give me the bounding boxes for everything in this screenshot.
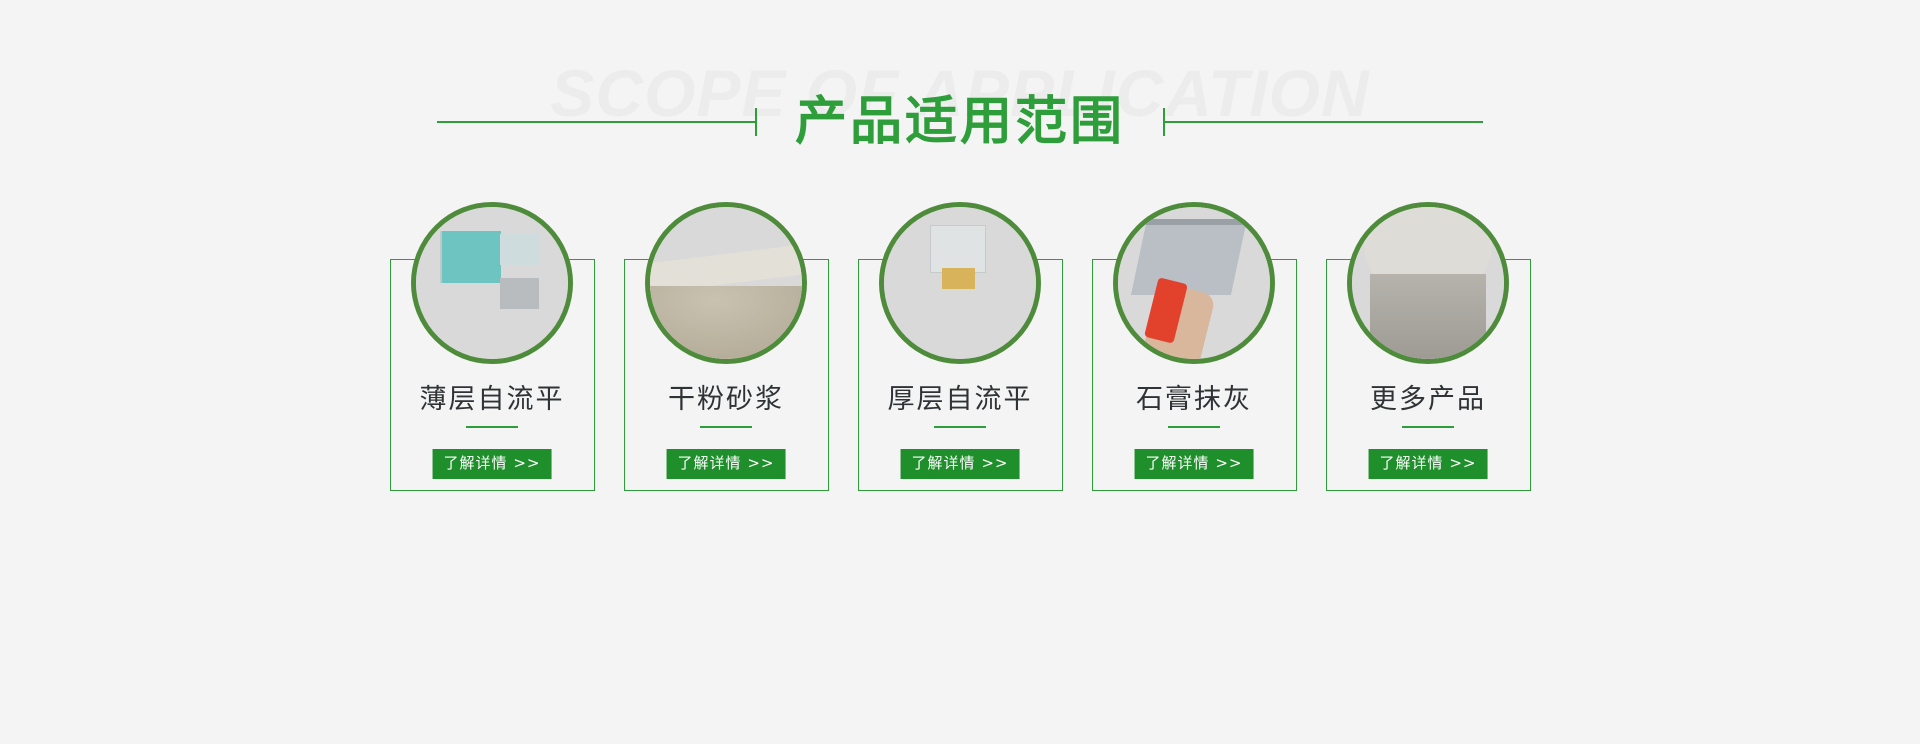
- card-frame: 石膏抹灰 了解详情 >>: [1092, 259, 1297, 491]
- product-scope-card-list: 薄层自流平 了解详情 >> 干粉砂浆 了解详情 >> 厚层自流平 了解详情 >>: [0, 201, 1920, 491]
- label-divider: [1402, 426, 1454, 428]
- product-card[interactable]: 薄层自流平 了解详情 >>: [390, 201, 595, 491]
- card-frame: 干粉砂浆 了解详情 >>: [624, 259, 829, 491]
- product-thumbnail: [645, 202, 807, 364]
- product-card-label: 干粉砂浆: [625, 386, 828, 413]
- product-card-label: 薄层自流平: [391, 386, 594, 413]
- section-header: SCOPE OF APPLICATION 产品适用范围: [0, 0, 1920, 190]
- product-card-label: 石膏抹灰: [1093, 386, 1296, 413]
- card-frame: 薄层自流平 了解详情 >>: [390, 259, 595, 491]
- label-divider: [934, 426, 986, 428]
- title-tick-left-icon: [755, 108, 757, 136]
- label-divider: [700, 426, 752, 428]
- product-thumbnail: [879, 202, 1041, 364]
- label-divider: [1168, 426, 1220, 428]
- title-row: 产品适用范围: [0, 96, 1920, 148]
- learn-more-button[interactable]: 了解详情 >>: [433, 449, 552, 479]
- learn-more-button[interactable]: 了解详情 >>: [1369, 449, 1488, 479]
- product-thumbnail: [1113, 202, 1275, 364]
- gypsum-plastering-trowel-photo: [1118, 207, 1270, 359]
- product-card[interactable]: 干粉砂浆 了解详情 >>: [624, 201, 829, 491]
- title-rule-right: [1163, 121, 1483, 123]
- product-card-label: 厚层自流平: [859, 386, 1062, 413]
- card-frame: 更多产品 了解详情 >>: [1326, 259, 1531, 491]
- product-card[interactable]: 更多产品 了解详情 >>: [1326, 201, 1531, 491]
- learn-more-button[interactable]: 了解详情 >>: [901, 449, 1020, 479]
- more-products-photo: [1352, 207, 1504, 359]
- product-card-label: 更多产品: [1327, 386, 1530, 413]
- product-card[interactable]: 石膏抹灰 了解详情 >>: [1092, 201, 1297, 491]
- title-rule-left: [437, 121, 757, 123]
- page-title: 产品适用范围: [757, 96, 1163, 148]
- product-card[interactable]: 厚层自流平 了解详情 >>: [858, 201, 1063, 491]
- thin-layer-self-leveling-floor-photo: [416, 207, 568, 359]
- learn-more-button[interactable]: 了解详情 >>: [1135, 449, 1254, 479]
- card-frame: 厚层自流平 了解详情 >>: [858, 259, 1063, 491]
- product-thumbnail: [1347, 202, 1509, 364]
- label-divider: [466, 426, 518, 428]
- title-tick-right-icon: [1163, 108, 1165, 136]
- thick-layer-self-leveling-floor-photo: [884, 207, 1036, 359]
- learn-more-button[interactable]: 了解详情 >>: [667, 449, 786, 479]
- dry-powder-mortar-photo: [650, 207, 802, 359]
- product-thumbnail: [411, 202, 573, 364]
